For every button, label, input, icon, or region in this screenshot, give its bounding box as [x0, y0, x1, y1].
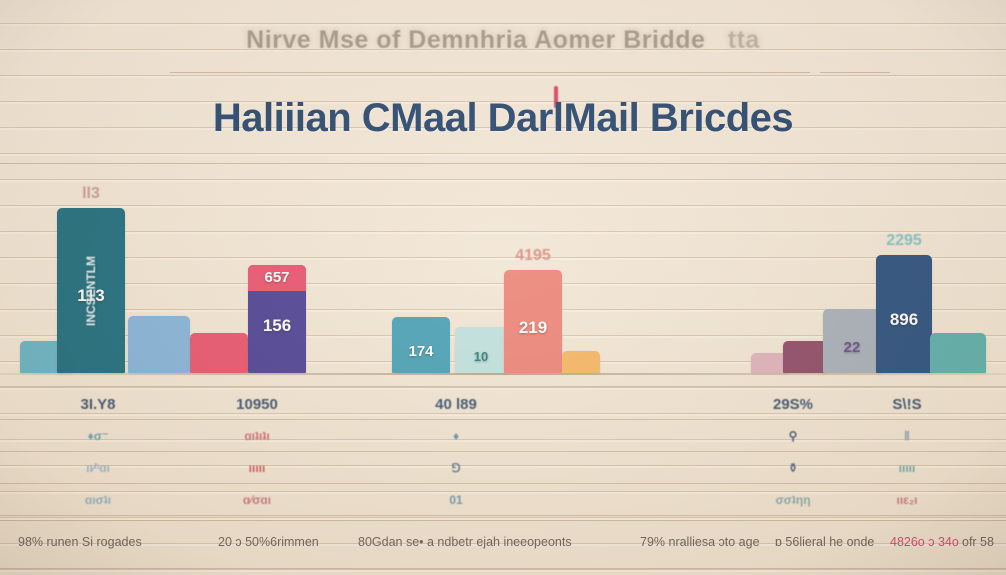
bar-top-label: ll3 [45, 185, 137, 203]
footer-bottom-rule [0, 568, 1006, 569]
axis-baseline [0, 373, 1006, 375]
table-cell: ιιε₂ı [857, 493, 957, 507]
table-cell: ııııı [207, 461, 307, 475]
chart-title: Haliiian CMaal DarlMail Bricdes [0, 96, 1006, 141]
bar-rotated-label: INCSENTLM [84, 256, 98, 326]
bar-value-label: 896 [876, 310, 932, 330]
footer-note: 79% nralliesa ɔto age [640, 535, 760, 549]
table-cell: ıı⁄ʰɑı [48, 461, 148, 475]
bar-cap-value-label: 657 [248, 269, 306, 286]
bar[interactable]: 113INCSENTLM [57, 208, 125, 373]
bar-value-label: 174 [392, 343, 450, 360]
bar[interactable] [190, 333, 248, 373]
table-header-row: 3I.Y81095040 l8929S%S\!S [0, 386, 1006, 419]
table-cell: ♦ [406, 429, 506, 443]
bar-value-label: 22 [823, 339, 881, 356]
table-cell: ɑıσʇı [48, 493, 148, 507]
table-cell: σσʇηη [743, 493, 843, 507]
bar-top-label: 2295 [864, 232, 944, 250]
table-row[interactable]: ♦σ⁻ɑıʇιʇı♦⚲Ⅱ [0, 419, 1006, 451]
bar[interactable] [128, 316, 190, 373]
table-bottom-rule [0, 515, 1006, 516]
table-row[interactable]: ɑıσʇıɑ⁄σɑı01σσʇηηιιε₂ı [0, 483, 1006, 515]
table-cell: ⚱ [743, 461, 843, 475]
table-row[interactable]: ıı⁄ʰɑıııııı⅁⚱ııııı [0, 451, 1006, 483]
table-cell: ⚲ [743, 429, 843, 443]
footer-notes: 98% runen Si rogades20 ɔ 50%6rimmen80Gda… [0, 520, 1006, 575]
bar[interactable]: 657156 [248, 265, 306, 373]
supertitle-underline-right [820, 72, 890, 73]
bar[interactable]: 10 [455, 327, 507, 373]
table-cell: ⅁ [406, 461, 506, 475]
footer-note: 80Gdan se• a ndbetr ejah ineeopeonts [358, 535, 572, 549]
bar[interactable]: 174 [392, 317, 450, 373]
table-header-cell: S\!S [857, 396, 957, 413]
supertitle-text: Nirve Mse of Demnhria Aomer Bridde [246, 26, 705, 54]
bar[interactable] [562, 351, 600, 373]
footer-note: 20 ɔ 50%6rimmen [218, 535, 319, 549]
title-divider [0, 163, 1006, 164]
bar[interactable]: 896 [876, 255, 932, 373]
bar-value-label: 219 [504, 318, 562, 338]
chart-canvas: Nirve Mse of Demnhria Aomer Bridde tta H… [0, 0, 1006, 575]
table-cell: ııııı [857, 461, 957, 475]
table-cell: ♦σ⁻ [48, 429, 148, 443]
footer-note: ɒ 56lieral he onde [775, 535, 874, 549]
footer-note: 98% runen Si rogades [18, 535, 142, 549]
footer-note: 4826o ɔ 34o [890, 535, 959, 549]
data-table: 3I.Y81095040 l8929S%S\!S♦σ⁻ɑıʇιʇı♦⚲Ⅱıı⁄ʰ… [0, 386, 1006, 521]
bar[interactable]: 219 [504, 270, 562, 373]
chart-supertitle: Nirve Mse of Demnhria Aomer Bridde tta [0, 26, 1006, 55]
table-cell: Ⅱ [857, 429, 957, 443]
table-header-cell: 40 l89 [406, 396, 506, 413]
table-header-cell: 29S% [743, 396, 843, 413]
plot-area: 113INCSENTLMll36571561741021941952289622… [0, 175, 1006, 373]
bar-top-label: 4195 [492, 247, 574, 265]
footer-note: ofr 58 [962, 535, 994, 549]
table-cell: 01 [406, 493, 506, 507]
bar-value-label: 10 [455, 349, 507, 364]
table-cell: ɑ⁄σɑı [207, 493, 307, 507]
table-header-cell: 10950 [207, 396, 307, 413]
supertitle-trailing-text: tta [728, 26, 760, 54]
bar-value-label: 156 [248, 316, 306, 336]
bar[interactable]: 22 [823, 309, 881, 373]
table-header-cell: 3I.Y8 [48, 396, 148, 413]
supertitle-underline-left [170, 72, 810, 73]
bar-cap-segment: 657 [248, 265, 306, 291]
table-cell: ɑıʇιʇı [207, 429, 307, 443]
bar[interactable] [783, 341, 827, 373]
bar[interactable] [930, 333, 986, 373]
